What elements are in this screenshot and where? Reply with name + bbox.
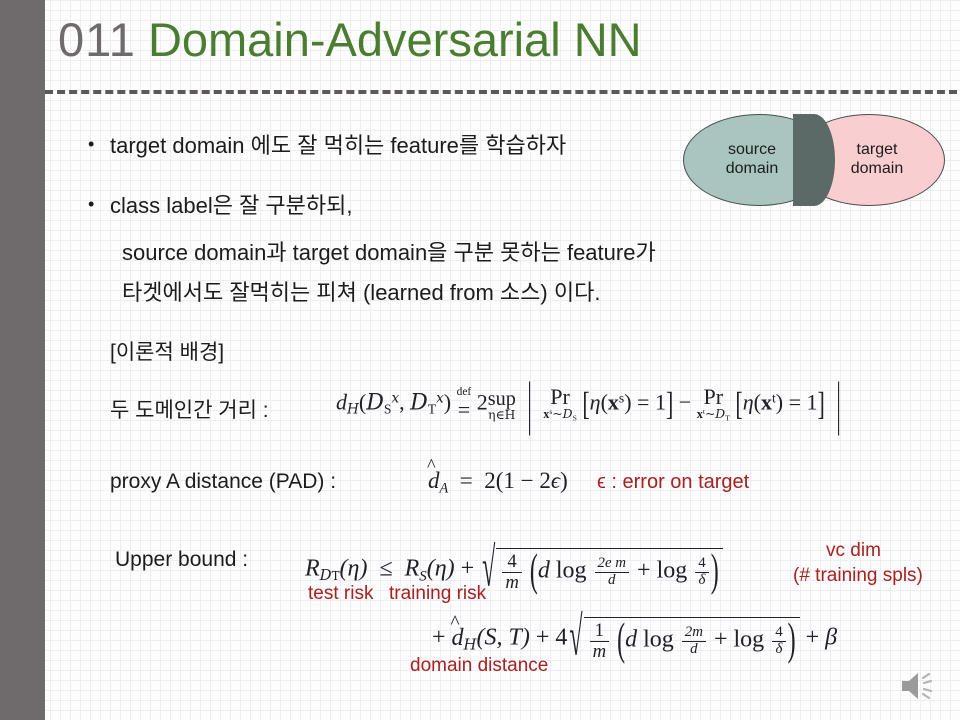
- speaker-icon[interactable]: [898, 668, 942, 704]
- bullet-text: target domain 에도 잘 먹히는 feature를 학습하자: [110, 128, 566, 160]
- distance-label: 두 도메인간 거리 :: [110, 394, 269, 424]
- abs-bar-right: |: [836, 369, 840, 439]
- prob-source: Pr xs~DS: [543, 386, 577, 423]
- prob-target: Pr xt~DT: [697, 386, 730, 423]
- annotation-training-spls: (# training spls): [793, 565, 923, 587]
- sqrt-term-1: √ 4 m (d log 2e m d + log 4 δ ): [480, 548, 723, 592]
- bullet-marker: •: [88, 194, 110, 215]
- slide-canvas: 011Domain-Adversarial NN •target domain …: [0, 0, 960, 720]
- annotation-test-risk: test risk: [308, 583, 373, 605]
- title-divider: [45, 90, 957, 94]
- annotation-epsilon: ϵ : error on target: [597, 471, 749, 494]
- bullet-item-1: •target domain 에도 잘 먹히는 feature를 학습하자: [88, 128, 566, 160]
- venn-ellipse-target: target domain: [793, 114, 945, 206]
- bullet-item-2-line-3: 타겟에서도 잘먹히는 피쳐 (learned from 소스) 이다.: [122, 275, 600, 307]
- venn-source-label: source domain: [726, 141, 778, 179]
- fraction-2em-d: 2e m d: [595, 556, 630, 588]
- bullet-marker: •: [88, 134, 110, 155]
- bullet-text: class label은 잘 구분하되,: [110, 188, 353, 220]
- left-sidebar-bar: [0, 0, 45, 720]
- annotation-domain-distance: domain distance: [410, 655, 548, 677]
- title-text: Domain-Adversarial NN: [148, 13, 642, 66]
- venn-diagram: source domain target domain: [683, 114, 945, 206]
- bullet-item-2: •class label은 잘 구분하되,: [88, 188, 353, 220]
- fraction-4-delta: 4 δ: [695, 556, 708, 588]
- formula-h-divergence: dH(DSx, DTx) def = 2supη∈H | Pr xs~DS [η…: [336, 386, 847, 423]
- sqrt-term-2: √ 1 m (d log 2m d + log 4 δ ): [567, 617, 799, 661]
- venn-target-label: target domain: [851, 141, 903, 179]
- annotation-vc-dim: vc dim: [826, 540, 881, 562]
- fraction-4-m: 4 m: [502, 552, 522, 592]
- annotation-training-risk: training risk: [389, 583, 486, 605]
- slide-title: 011Domain-Adversarial NN: [58, 12, 642, 67]
- fraction-4-delta-2: 4 δ: [772, 625, 785, 657]
- sup-operator: supη∈H: [488, 387, 516, 422]
- d-hat: d^: [428, 468, 440, 493]
- theory-heading: [이론적 배경]: [110, 336, 224, 366]
- def-equals: def =: [457, 387, 472, 421]
- title-number: 011: [58, 13, 136, 66]
- fraction-2m-d: 2m d: [682, 625, 706, 657]
- fraction-1-m: 1 m: [590, 621, 610, 661]
- bullet-item-2-line-2: source domain과 target domain을 구분 못하는 fea…: [122, 235, 656, 267]
- pad-label: proxy A distance (PAD) :: [110, 470, 336, 494]
- formula-pad: d^A = 2(1 − 2ϵ): [428, 468, 568, 498]
- d-hat-2: d^: [452, 625, 464, 651]
- abs-bar-left: |: [527, 369, 531, 439]
- upper-bound-label: Upper bound :: [115, 548, 248, 572]
